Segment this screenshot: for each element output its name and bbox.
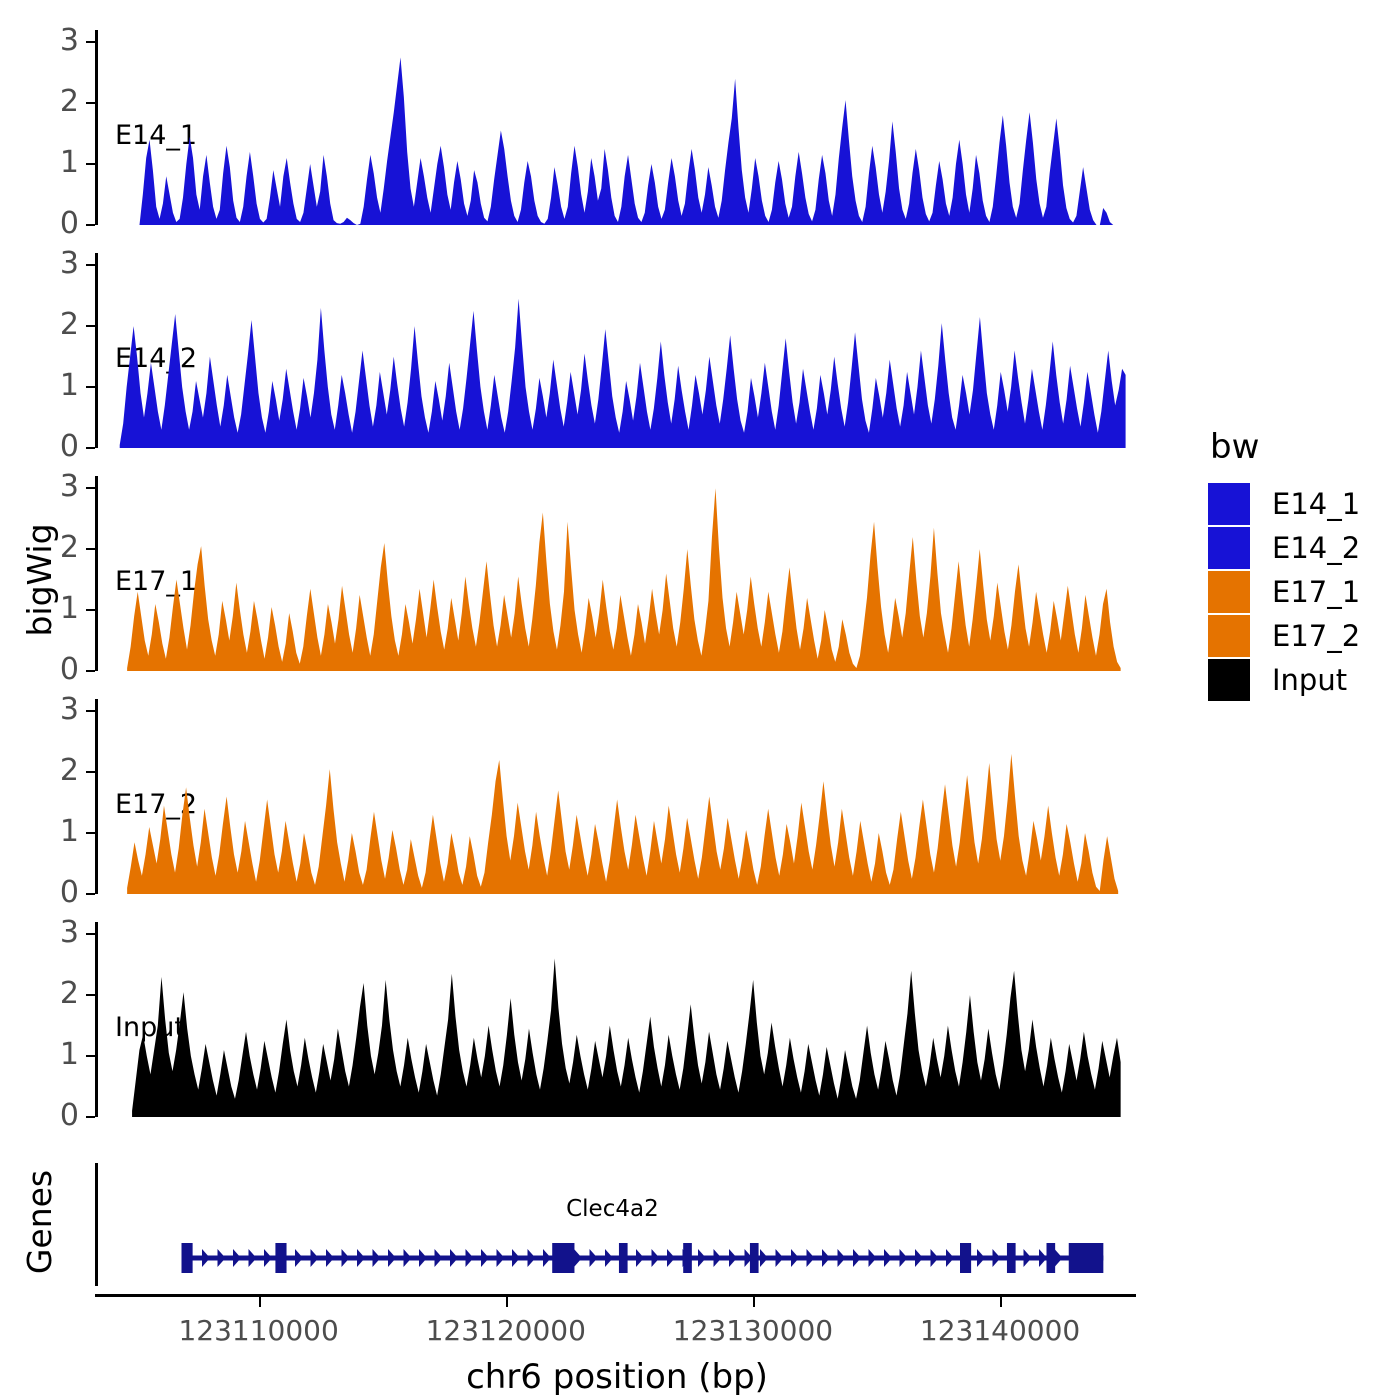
gene-model-area <box>95 1163 1133 1286</box>
y-axis-title-bigwig: bigWig <box>20 480 60 680</box>
legend-item-input[interactable]: Input <box>1208 658 1360 702</box>
y-tick-label: 1 <box>39 371 79 401</box>
y-tick-label: 3 <box>39 918 79 948</box>
legend-label-input: Input <box>1272 666 1347 695</box>
legend-item-e14_2[interactable]: E14_2 <box>1208 526 1360 570</box>
legend: bw E14_1E14_2E17_1E17_2Input <box>1208 430 1360 702</box>
coverage-track-input: 0123Input <box>95 922 1133 1117</box>
legend-label-e17_1: E17_1 <box>1272 578 1360 607</box>
coverage-track-e17_2: 0123E17_2 <box>95 699 1133 894</box>
y-tick <box>86 548 95 550</box>
x-tick-label: 123140000 <box>920 1314 1080 1347</box>
y-tick <box>86 447 95 449</box>
y-tick <box>86 893 95 895</box>
x-tick-label: 123120000 <box>426 1314 586 1347</box>
legend-swatch-input <box>1208 659 1250 701</box>
y-tick-label: 1 <box>39 148 79 178</box>
x-tick-label: 123110000 <box>178 1314 338 1347</box>
y-tick <box>86 1055 95 1057</box>
legend-item-e17_1[interactable]: E17_1 <box>1208 570 1360 614</box>
y-tick-label: 0 <box>39 432 79 462</box>
y-tick <box>86 933 95 935</box>
y-tick <box>86 264 95 266</box>
y-tick-label: 0 <box>39 1101 79 1131</box>
y-tick <box>86 994 95 996</box>
y-tick-label: 2 <box>39 310 79 340</box>
gene-track-panel: Clec4a2 <box>95 1163 1133 1286</box>
y-tick <box>86 487 95 489</box>
legend-item-e17_2[interactable]: E17_2 <box>1208 614 1360 658</box>
legend-swatch-e17_2 <box>1208 615 1250 657</box>
y-tick <box>86 832 95 834</box>
coverage-area-e17_1 <box>95 476 1133 673</box>
x-tick-label: 123130000 <box>673 1314 833 1347</box>
legend-swatch-e14_2 <box>1208 527 1250 569</box>
coverage-track-e14_1: 0123E14_1 <box>95 30 1133 225</box>
legend-label-e17_2: E17_2 <box>1272 622 1360 651</box>
y-tick-label: 1 <box>39 817 79 847</box>
legend-swatch-e17_1 <box>1208 571 1250 613</box>
coverage-area-e14_1 <box>95 30 1133 227</box>
coverage-area-e17_2 <box>95 699 1133 896</box>
y-tick-label: 1 <box>39 1040 79 1070</box>
y-tick-label: 3 <box>39 695 79 725</box>
y-tick-label: 0 <box>39 655 79 685</box>
coverage-track-e17_1: 0123E17_1 <box>95 476 1133 671</box>
coverage-area-input <box>95 922 1133 1119</box>
legend-items: E14_1E14_2E17_1E17_2Input <box>1208 482 1360 702</box>
x-tick <box>259 1297 261 1307</box>
y-tick <box>86 163 95 165</box>
legend-title: bw <box>1210 430 1360 464</box>
y-tick <box>86 1116 95 1118</box>
x-tick <box>506 1297 508 1307</box>
y-tick-label: 3 <box>39 26 79 56</box>
y-tick-label: 2 <box>39 756 79 786</box>
y-tick-label: 0 <box>39 209 79 239</box>
y-tick <box>86 224 95 226</box>
gene-model <box>95 1163 1133 1286</box>
y-tick-label: 2 <box>39 979 79 1009</box>
x-axis-line <box>95 1294 1136 1297</box>
coverage-area-e14_2 <box>95 253 1133 450</box>
legend-label-e14_1: E14_1 <box>1272 490 1360 519</box>
y-tick-label: 1 <box>39 594 79 624</box>
x-tick <box>753 1297 755 1307</box>
y-tick <box>86 670 95 672</box>
y-tick <box>86 609 95 611</box>
x-tick <box>1000 1297 1002 1307</box>
legend-swatch-e14_1 <box>1208 483 1250 525</box>
gene-name-label: Clec4a2 <box>566 1196 659 1222</box>
y-tick-label: 3 <box>39 249 79 279</box>
y-tick-label: 3 <box>39 472 79 502</box>
y-axis-title-genes: Genes <box>20 1122 60 1322</box>
x-axis-title: chr6 position (bp) <box>98 1357 1136 1397</box>
y-tick <box>86 710 95 712</box>
y-tick-label: 0 <box>39 878 79 908</box>
y-tick <box>86 771 95 773</box>
y-tick <box>86 102 95 104</box>
y-tick <box>86 41 95 43</box>
y-tick-label: 2 <box>39 87 79 117</box>
y-tick <box>86 325 95 327</box>
legend-item-e14_1[interactable]: E14_1 <box>1208 482 1360 526</box>
coverage-track-e14_2: 0123E14_2 <box>95 253 1133 448</box>
y-tick-label: 2 <box>39 533 79 563</box>
legend-label-e14_2: E14_2 <box>1272 534 1360 563</box>
y-tick <box>86 386 95 388</box>
